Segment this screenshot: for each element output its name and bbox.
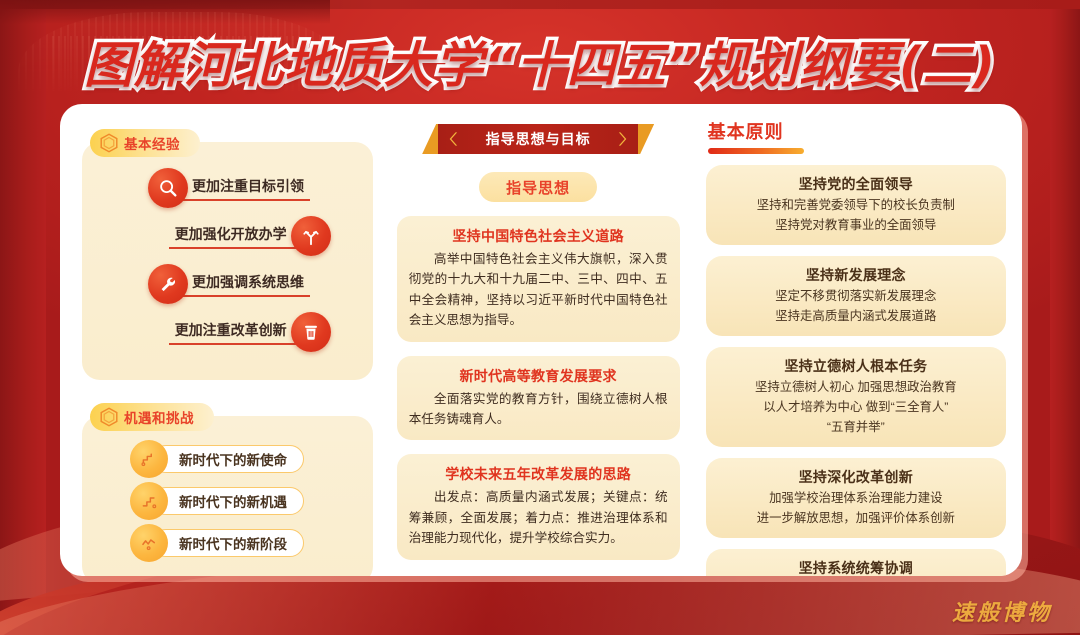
center-card-body: 全面落实党的教育方针，围绕立德树人根本任务铸魂育人。 <box>409 389 668 430</box>
basic-experience-tab-label: 基本经验 <box>124 133 180 153</box>
principle-card-title: 坚持党的全面领导 <box>716 174 996 194</box>
principle-card-line: 坚持党对教育事业的全面领导 <box>716 216 996 236</box>
main-content-card: 基本经验 更加注重目标引领 更加强化开放办学 <box>60 104 1022 576</box>
center-card-title: 新时代高等教育发展要求 <box>409 366 668 386</box>
hexagon-icon <box>98 132 120 154</box>
principle-card-line: 加强学校治理体系治理能力建设 <box>716 489 996 509</box>
guiding-thought-pill: 指导思想 <box>479 172 597 202</box>
opportunity-item-label: 新时代下的新阶段 <box>152 529 304 557</box>
opportunity-item[interactable]: 新时代下的新使命 <box>96 438 359 480</box>
basic-principles-heading: 基本原则 <box>706 118 1006 144</box>
guiding-thought-banner: 指导思想与目标 <box>422 124 654 154</box>
principle-card-line: 坚持和完善党委领导下的校长负责制 <box>716 196 996 216</box>
right-column: 基本原则 坚持党的全面领导 坚持和完善党委领导下的校长负责制 坚持党对教育事业的… <box>706 118 1006 566</box>
principle-card-line: 坚持走高质量内涵式发展道路 <box>716 307 996 327</box>
experience-item-label: 更加强化开放办学 <box>169 224 299 249</box>
page-title-container: 图解河北地质大学“十四五”规划纲要(二) <box>0 26 1080 97</box>
center-card-body: 高举中国特色社会主义伟大旗帜，深入贯彻党的十九大和十九届二中、三中、四中、五中全… <box>409 249 668 331</box>
opportunity-item-label: 新时代下的新机遇 <box>152 487 304 515</box>
principle-card-line: 坚持立德树人初心 加强思想政治教育 <box>716 378 996 398</box>
magnifier-icon <box>148 168 188 208</box>
step-chart-icon <box>130 440 168 478</box>
center-card: 坚持中国特色社会主义道路 高举中国特色社会主义伟大旗帜，深入贯彻党的十九大和十九… <box>397 216 680 342</box>
wave-chart-icon <box>130 524 168 562</box>
page-title: 图解河北地质大学“十四五”规划纲要(二) <box>84 26 996 97</box>
principle-card: 坚持新发展理念 坚定不移贯彻落实新发展理念 坚持走高质量内涵式发展道路 <box>706 256 1006 336</box>
principle-card: 坚持党的全面领导 坚持和完善党委领导下的校长负责制 坚持党对教育事业的全面领导 <box>706 165 1006 245</box>
opportunity-item[interactable]: 新时代下的新阶段 <box>96 522 359 564</box>
branching-arrows-icon <box>291 216 331 256</box>
center-card: 学校未来五年改革发展的思路 出发点：高质量内涵式发展；关键点：统筹兼顾，全面发展… <box>397 454 680 559</box>
opportunity-challenge-tab: 机遇和挑战 <box>90 403 214 431</box>
left-column: 基本经验 更加注重目标引领 更加强化开放办学 <box>82 118 373 566</box>
basic-experience-panel: 基本经验 更加注重目标引领 更加强化开放办学 <box>82 142 373 380</box>
experience-item-label: 更加注重目标引领 <box>180 176 310 201</box>
content-columns: 基本经验 更加注重目标引领 更加强化开放办学 <box>60 104 1022 576</box>
center-card-title: 坚持中国特色社会主义道路 <box>409 226 668 246</box>
infographic-poster: 图解河北地质大学“十四五”规划纲要(二) 基本经验 <box>0 0 1080 635</box>
opportunity-item[interactable]: 新时代下的新机遇 <box>96 480 359 522</box>
center-card-title: 学校未来五年改革发展的思路 <box>409 464 668 484</box>
principle-card-line: 坚定不移贯彻落实新发展理念 <box>716 287 996 307</box>
hexagon-icon <box>98 406 120 428</box>
principle-card-title: 坚持深化改革创新 <box>716 467 996 487</box>
basic-experience-tab: 基本经验 <box>90 129 200 157</box>
principle-card: 坚持立德树人根本任务 坚持立德树人初心 加强思想政治教育 以人才培养为中心 做到… <box>706 347 1006 447</box>
principle-card-title: 坚持新发展理念 <box>716 265 996 285</box>
principle-card-line: 以人才培养为中心 做到“三全育人” <box>716 398 996 418</box>
principle-card: 坚持系统统筹协调 强化系统观念，统筹校内外一盘棋 将协同融合理念贯穿到学校发展各… <box>706 549 1006 576</box>
principle-card-line: “五育并举” <box>716 418 996 438</box>
step-chart-icon <box>130 482 168 520</box>
wrench-icon <box>148 264 188 304</box>
principle-card-line: 进一步解放思想，加强评价体系创新 <box>716 509 996 529</box>
trash-bin-icon <box>291 312 331 352</box>
footer-watermark: 速般博物 <box>952 595 1052 627</box>
opportunity-item-label: 新时代下的新使命 <box>152 445 304 473</box>
experience-item[interactable]: 更加注重目标引领 <box>96 164 359 212</box>
banner-label: 指导思想与目标 <box>422 124 654 154</box>
opportunity-challenge-tab-label: 机遇和挑战 <box>124 407 194 427</box>
basic-principles-underline <box>708 148 804 154</box>
experience-item[interactable]: 更加强化开放办学 <box>96 212 359 260</box>
opportunity-challenge-panel: 机遇和挑战 新时代下的新使命 <box>82 416 373 576</box>
experience-item[interactable]: 更加注重改革创新 <box>96 308 359 356</box>
center-card-body: 出发点：高质量内涵式发展；关键点：统筹兼顾，全面发展；着力点：推进治理体系和治理… <box>409 487 668 548</box>
center-card: 新时代高等教育发展要求 全面落实党的教育方针，围绕立德树人根本任务铸魂育人。 <box>397 356 680 441</box>
experience-item[interactable]: 更加强调系统思维 <box>96 260 359 308</box>
experience-item-label: 更加强调系统思维 <box>180 272 310 297</box>
principle-card-title: 坚持系统统筹协调 <box>716 558 996 576</box>
experience-item-label: 更加注重改革创新 <box>169 320 299 345</box>
principle-card: 坚持深化改革创新 加强学校治理体系治理能力建设 进一步解放思想，加强评价体系创新 <box>706 458 1006 538</box>
center-column: 指导思想与目标 指导思想 坚持中国特色社会主义道路 高举中国特色社会主义伟大旗帜… <box>397 118 680 566</box>
principle-card-title: 坚持立德树人根本任务 <box>716 356 996 376</box>
